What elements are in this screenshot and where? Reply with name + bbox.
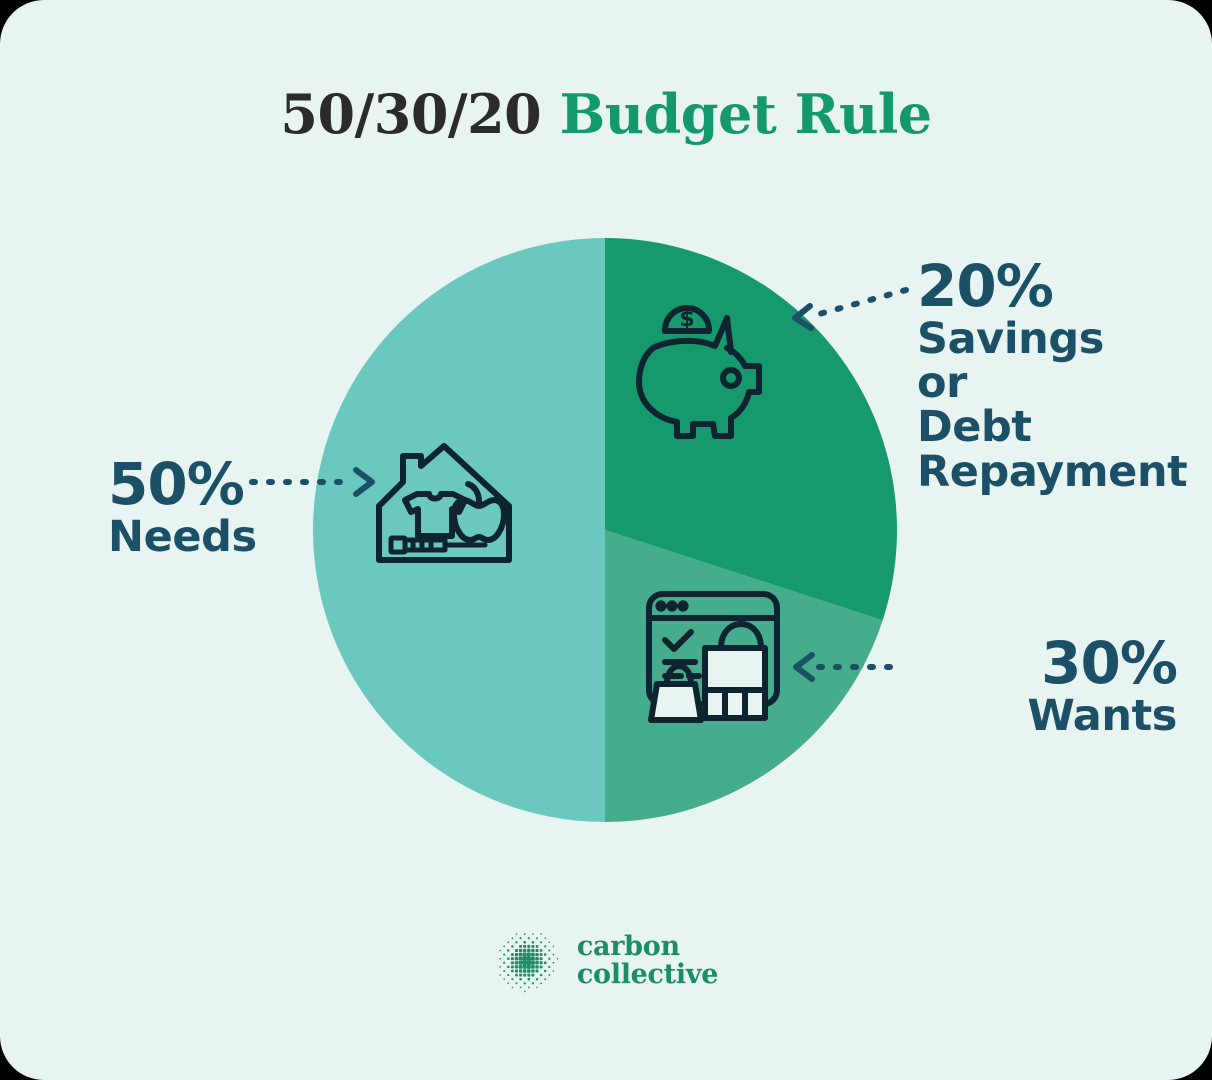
dotted-circle-logo-mark	[494, 928, 560, 994]
callout-savings: 20% Savings or Debt Repayment	[917, 257, 1207, 494]
infographic-card: 50/30/20 Budget Rule	[0, 0, 1212, 1080]
brand-logo[interactable]: carbon collective	[0, 928, 1212, 994]
savings-label-line-4: Repayment	[917, 450, 1207, 494]
page-title: 50/30/20 Budget Rule	[0, 82, 1212, 146]
wants-percent: 30%	[905, 634, 1185, 694]
title-suffix: Budget Rule	[560, 82, 932, 146]
budget-pie-chart: $	[313, 238, 897, 822]
brand-name-line-1: carbon	[577, 933, 718, 961]
wants-label: Wants	[905, 694, 1185, 738]
needs-label: Needs	[108, 515, 368, 559]
savings-label: Savings or Debt Repayment	[917, 317, 1207, 494]
callout-needs: 50% Needs	[108, 455, 368, 559]
brand-name-line-2: collective	[577, 961, 718, 989]
savings-label-line-2: or	[917, 361, 1207, 405]
savings-label-line-1: Savings	[917, 317, 1207, 361]
title-prefix: 50/30/20	[280, 82, 541, 146]
callout-wants: 30% Wants	[905, 634, 1185, 738]
brand-logo-text: carbon collective	[577, 933, 718, 988]
wants-label-line-1: Wants	[905, 694, 1177, 738]
needs-label-line-1: Needs	[108, 515, 368, 559]
pie-slices	[313, 238, 897, 822]
savings-label-line-3: Debt	[917, 405, 1207, 449]
needs-percent: 50%	[108, 455, 368, 515]
savings-percent: 20%	[917, 257, 1207, 317]
